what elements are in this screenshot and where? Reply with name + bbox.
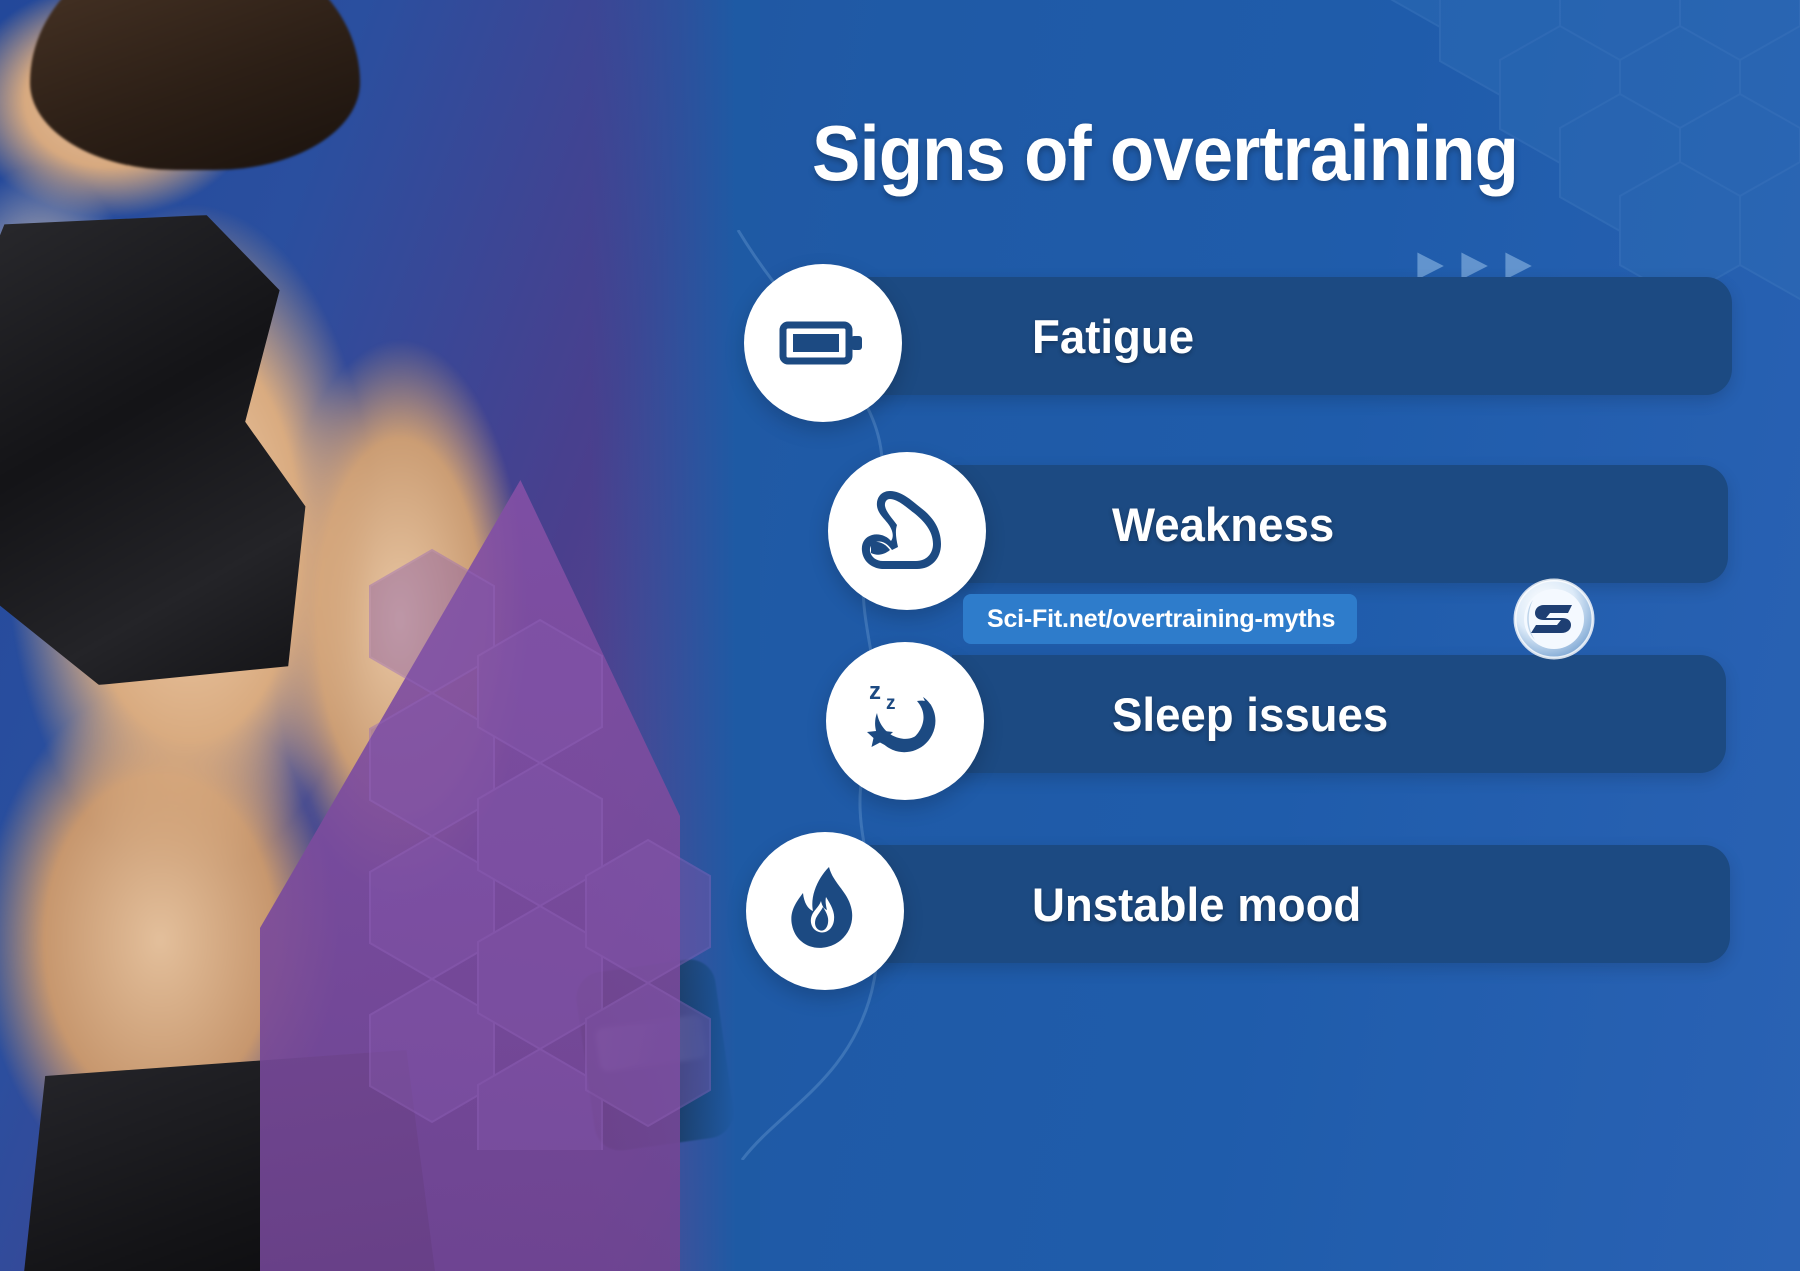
- sign-card: Weakness: [950, 465, 1728, 583]
- watermark-url: Sci-Fit.net/overtraining-myths: [987, 605, 1335, 634]
- sign-row-weakness[interactable]: Weakness: [950, 465, 1728, 583]
- sign-icon-bubble-sleep-issues: z z: [826, 642, 984, 800]
- page-title: Signs of overtraining: [733, 108, 1598, 199]
- watermark-url-bar[interactable]: Sci-Fit.net/overtraining-myths: [963, 594, 1357, 644]
- sign-label: Fatigue: [1032, 309, 1194, 364]
- sign-card: Unstable mood: [868, 845, 1730, 963]
- flexed-bicep-icon: [857, 481, 957, 581]
- sign-row-unstable-mood[interactable]: Unstable mood: [868, 845, 1730, 963]
- moon-zzz-icon: z z: [853, 669, 957, 773]
- infographic-canvas: Signs of overtraining Fatigue Weakness: [0, 0, 1800, 1271]
- sign-icon-bubble-weakness: [828, 452, 986, 610]
- sign-card: Fatigue: [866, 277, 1732, 395]
- sign-row-fatigue[interactable]: Fatigue: [866, 277, 1732, 395]
- battery-icon: [775, 295, 871, 391]
- flame-icon: [777, 863, 873, 959]
- sign-icon-bubble-unstable-mood: [746, 832, 904, 990]
- sign-card: Sleep issues: [952, 655, 1726, 773]
- sign-label: Sleep issues: [1112, 687, 1388, 742]
- sign-label: Unstable mood: [1032, 877, 1361, 932]
- sign-icon-bubble-fatigue: [744, 264, 902, 422]
- sign-label: Weakness: [1112, 497, 1334, 552]
- hexagon-pattern-left-icon: [350, 430, 770, 1150]
- svg-text:z: z: [886, 693, 896, 714]
- photo-hair: [30, 0, 360, 170]
- sign-row-sleep-issues[interactable]: Sleep issues: [952, 655, 1726, 773]
- sci-fit-s-logo-icon[interactable]: [1513, 578, 1595, 660]
- svg-text:z: z: [869, 678, 881, 705]
